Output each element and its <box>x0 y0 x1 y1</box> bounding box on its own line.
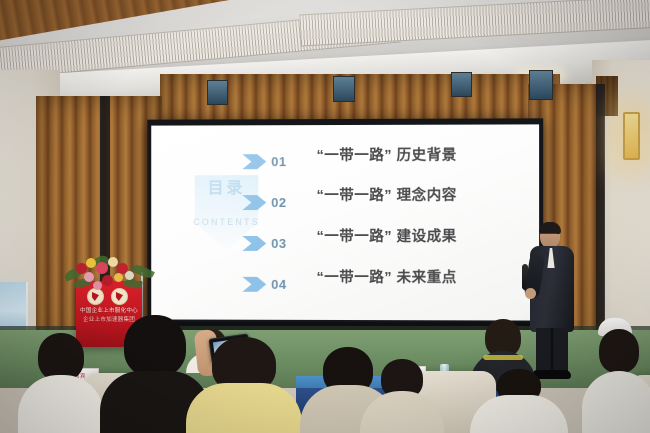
wall-window-1 <box>207 80 228 105</box>
agenda-item-03[interactable]: 03 “一带一路” 建设成果 <box>234 223 535 264</box>
projection-screen: 目录 CONTENTS 01 “一带一路” 历史背景 02 “一带一路” 理念内… <box>147 118 543 335</box>
agenda-text-04: “一带一路” 未来重点 <box>317 266 457 287</box>
flower-arrangement <box>62 253 156 293</box>
agenda-number-02: 02 <box>271 195 286 210</box>
wall-window-2 <box>333 76 355 102</box>
agenda-list: 01 “一带一路” 历史背景 02 “一带一路” 理念内容 03 “一带一路” … <box>234 140 535 305</box>
audience-member-1 <box>18 333 104 433</box>
agenda-number-04: 04 <box>271 277 286 292</box>
wall-window-4 <box>529 70 553 100</box>
chevron-right-icon <box>242 236 266 251</box>
agenda-item-04[interactable]: 04 “一带一路” 未来重点 <box>234 264 535 306</box>
chevron-right-icon <box>242 195 266 210</box>
audience-member-7 <box>582 329 650 433</box>
glasses-icon <box>540 233 557 238</box>
projection-screen-surface: 目录 CONTENTS 01 “一带一路” 历史背景 02 “一带一路” 理念内… <box>151 124 539 320</box>
presentation-slide: 目录 CONTENTS 01 “一带一路” 历史背景 02 “一带一路” 理念内… <box>151 124 539 320</box>
agenda-item-02[interactable]: 02 “一带一路” 理念内容 <box>234 182 535 223</box>
chevron-right-icon <box>242 277 266 292</box>
audience-member-3-recording <box>186 337 302 433</box>
agenda-item-01[interactable]: 01 “一带一路” 历史背景 <box>234 140 535 182</box>
chevron-right-icon <box>242 154 266 169</box>
wall-sconce-light <box>623 112 640 160</box>
agenda-text-03: “一带一路” 建设成果 <box>317 225 457 246</box>
presenter-legs <box>536 328 568 372</box>
agenda-text-01: “一带一路” 历史背景 <box>317 144 457 165</box>
wall-window-3 <box>451 72 472 97</box>
audience-member-5 <box>360 359 444 433</box>
audience-member-6 <box>470 369 568 433</box>
agenda-number-03: 03 <box>271 236 286 251</box>
agenda-number-01: 01 <box>271 154 286 169</box>
agenda-text-02: “一带一路” 理念内容 <box>317 184 457 205</box>
presenter-hand <box>525 288 536 299</box>
conference-hall-photo: 目录 CONTENTS 01 “一带一路” 历史背景 02 “一带一路” 理念内… <box>0 0 650 433</box>
